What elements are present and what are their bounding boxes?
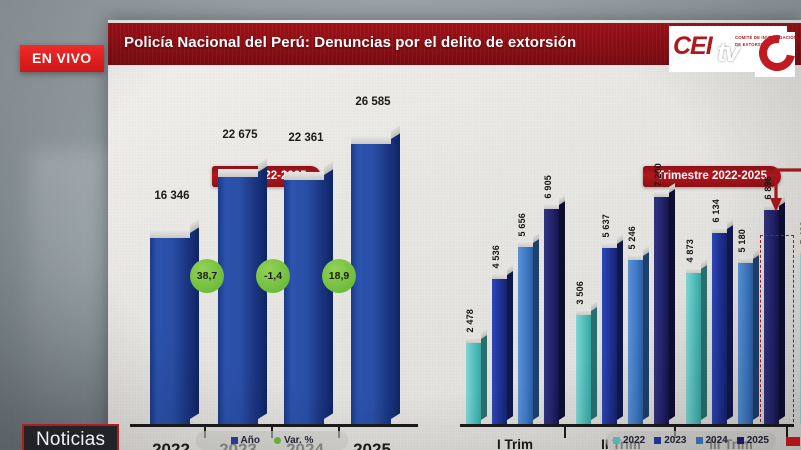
annual-chart-panel: Año 2022-2025 (108, 65, 448, 450)
bar-face (686, 272, 701, 424)
logo-sub-text: tv (717, 37, 738, 68)
highlight-box-III-2025 (760, 235, 794, 427)
bar-side (617, 239, 623, 420)
quarterly-chart-panel: Trimestre 2022-2025 2 478 4 536 (448, 65, 801, 450)
q-bar-III-2024 (738, 262, 753, 424)
quarterly-x-label-I: I Trim (470, 437, 560, 450)
annual-variation-2024-2025: 18,9 (322, 259, 356, 293)
q-label-II-2024: 5 246 (627, 226, 637, 250)
annual-x-label-2025: 2025 (339, 440, 405, 450)
legend-swatch-icon (696, 437, 703, 444)
annual-x-label-2022: 2022 (138, 440, 204, 450)
legend-label: 2022 (623, 435, 645, 446)
bar-top (654, 191, 669, 197)
quarterly-plot-area: 2 478 4 536 5 656 6 905 (448, 65, 801, 450)
q-label-II-2025: 7 290 (653, 163, 663, 187)
q-label-I-2024: 5 656 (517, 213, 527, 237)
bar-face (738, 262, 753, 424)
bar-face (466, 342, 481, 424)
q-bar-II-2022 (576, 314, 591, 424)
legend-item-var: Var. % (274, 435, 313, 446)
comparison-arrow-icon (748, 160, 801, 250)
channel-logo: CEI COMITÉ DE INVESTIGACIÓN DE EXTORSIÓN… (659, 23, 799, 79)
legend-item-2023: 2023 (654, 435, 686, 446)
q-bar-I-2025 (544, 208, 559, 424)
annual-value-label-2025: 26 585 (341, 96, 405, 108)
bar-face (351, 143, 391, 424)
q-bar-III-2023 (712, 232, 727, 424)
legend-swatch-icon (613, 437, 620, 444)
bar-side (591, 306, 597, 420)
bar-face (284, 179, 324, 424)
q-bar-I-2022 (466, 342, 481, 424)
annual-variation-2022-2023: 38,7 (190, 259, 224, 293)
bar-top (284, 172, 324, 180)
annual-x-axis (130, 424, 418, 427)
bar-top (466, 337, 481, 343)
bar-top (628, 254, 643, 260)
bar-face (544, 208, 559, 424)
headline-text: Policía Nacional del Perú: Denuncias por… (124, 34, 576, 51)
legend-swatch-highlight-icon (786, 437, 800, 446)
bar-side (669, 188, 675, 420)
bar-side (507, 270, 513, 420)
annual-value-label-2022: 16 346 (140, 190, 204, 202)
annual-bar-2022 (150, 237, 190, 424)
bar-face (150, 237, 190, 424)
bar-top (492, 273, 507, 279)
bar-side (727, 224, 733, 420)
logo-brand-text: CEI (673, 32, 712, 61)
q-label-I-2023: 4 536 (491, 245, 501, 269)
legend-label: 2025 (747, 435, 769, 446)
annual-variation-2023-2024: -1,4 (256, 259, 290, 293)
legend-label: Var. % (284, 435, 313, 446)
program-tag: Noticias (22, 424, 119, 450)
annual-plot-area: 16 346 22 675 22 361 26 585 38,7 -1,4 18… (108, 65, 448, 450)
q-bar-II-2023 (602, 247, 617, 424)
logo-ring-icon (752, 28, 801, 78)
bar-top (712, 227, 727, 233)
bar-side (190, 226, 199, 419)
bar-face (492, 278, 507, 424)
bar-face (576, 314, 591, 424)
bar-top (351, 136, 391, 144)
q-bar-II-2024 (628, 259, 643, 424)
legend-label: Año (241, 435, 260, 446)
bar-top (602, 242, 617, 248)
annual-bar-2024 (284, 179, 324, 424)
bar-top (544, 203, 559, 209)
bar-face (654, 196, 669, 424)
bar-side (559, 200, 565, 420)
backdrop-blur-column (30, 150, 120, 450)
broadcast-graphic-card: Policía Nacional del Perú: Denuncias por… (108, 20, 801, 450)
annual-legend: Año Var. % (196, 431, 348, 450)
q-label-I-2025: 6 905 (543, 175, 553, 199)
bar-side (753, 254, 759, 420)
bar-side (533, 238, 539, 420)
bar-face (712, 232, 727, 424)
quarterly-x-axis (460, 424, 794, 427)
bar-face (602, 247, 617, 424)
q-label-III-2022: 4 873 (685, 239, 695, 263)
q-label-III-2024: 5 180 (737, 229, 747, 253)
q-label-II-2023: 5 637 (601, 214, 611, 238)
q-bar-I-2023 (492, 278, 507, 424)
legend-item-2025: 2025 (737, 435, 769, 446)
annual-bar-2023 (218, 176, 258, 424)
q-bar-I-2024 (518, 246, 533, 424)
logo-ring-wrap (755, 29, 799, 77)
legend-item-2024: 2024 (696, 435, 728, 446)
bar-side (324, 168, 333, 419)
bar-side (391, 132, 400, 419)
bar-side (481, 334, 487, 420)
bar-top (518, 241, 533, 247)
annual-value-label-2024: 22 361 (274, 132, 338, 144)
q-label-I-2022: 2 478 (465, 309, 475, 333)
annual-bar-2025 (351, 143, 391, 424)
quarterly-axis-tick (564, 427, 566, 438)
bar-side (643, 251, 649, 420)
annual-value-label-2023: 22 675 (208, 129, 272, 141)
bar-side (701, 264, 707, 420)
q-bar-II-2025 (654, 196, 669, 424)
legend-item-ano: Año (231, 435, 260, 446)
bar-top (738, 257, 753, 263)
bar-face (518, 246, 533, 424)
bar-top (150, 230, 190, 238)
legend-label: 2023 (664, 435, 686, 446)
bar-top (218, 169, 258, 177)
quarterly-legend: 2022 2023 2024 2025 (606, 431, 776, 450)
bar-top (686, 267, 701, 273)
legend-swatch-icon (274, 437, 281, 444)
q-bar-III-2022 (686, 272, 701, 424)
legend-swatch-icon (231, 437, 238, 444)
q-label-III-2023: 6 134 (711, 199, 721, 223)
legend-swatch-icon (654, 437, 661, 444)
bar-side (258, 165, 267, 419)
bar-face (218, 176, 258, 424)
legend-label: 2024 (706, 435, 728, 446)
bar-top (576, 309, 591, 315)
legend-item-2022: 2022 (613, 435, 645, 446)
bar-face (628, 259, 643, 424)
live-badge: EN VIVO (20, 45, 104, 72)
q-label-II-2022: 3 506 (575, 281, 585, 305)
legend-swatch-icon (737, 437, 744, 444)
